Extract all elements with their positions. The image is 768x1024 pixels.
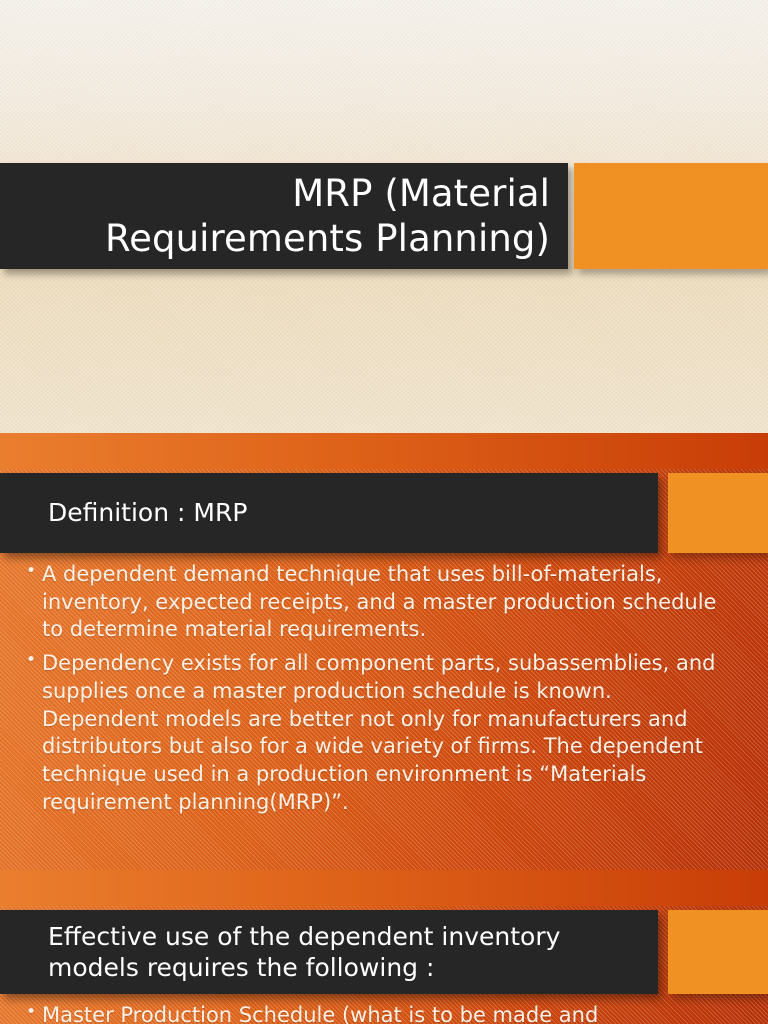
effective-heading-line-2: models requires the following :	[48, 953, 434, 982]
effective-heading-bar: Effective use of the dependent inventory…	[0, 910, 658, 994]
title-line-2: Requirements Planning)	[105, 217, 550, 260]
title-line-1: MRP (Material	[292, 172, 550, 215]
title-bar: MRP (Material Requirements Planning)	[0, 163, 568, 269]
slide-title-section: MRP (Material Requirements Planning)	[0, 0, 768, 433]
definition-top-band	[0, 433, 768, 469]
title-accent-block	[574, 163, 768, 269]
definition-body: A dependent demand technique that uses b…	[0, 561, 768, 822]
list-item: Dependency exists for all component part…	[26, 650, 728, 816]
page-title: MRP (Material Requirements Planning)	[105, 171, 550, 261]
effective-accent-block	[668, 910, 768, 994]
definition-heading-bar: Definition : MRP	[0, 473, 658, 553]
slide-deck: MRP (Material Requirements Planning) Def…	[0, 0, 768, 1024]
effective-top-band	[0, 870, 768, 906]
definition-bullet-list: A dependent demand technique that uses b…	[26, 561, 728, 816]
definition-heading-text: Definition : MRP	[48, 498, 247, 528]
list-item: Master Production Schedule (what is to b…	[26, 1002, 728, 1024]
effective-heading-line-1: Effective use of the dependent inventory	[48, 922, 560, 951]
effective-heading-text: Effective use of the dependent inventory…	[48, 921, 560, 984]
effective-bullet-list: Master Production Schedule (what is to b…	[26, 1002, 728, 1024]
definition-accent-block	[668, 473, 768, 553]
list-item: A dependent demand technique that uses b…	[26, 561, 728, 644]
slide-definition-section: Definition : MRP A dependent demand tech…	[0, 433, 768, 870]
effective-body: Master Production Schedule (what is to b…	[0, 1002, 768, 1024]
slide-effective-use-section: Effective use of the dependent inventory…	[0, 870, 768, 1024]
